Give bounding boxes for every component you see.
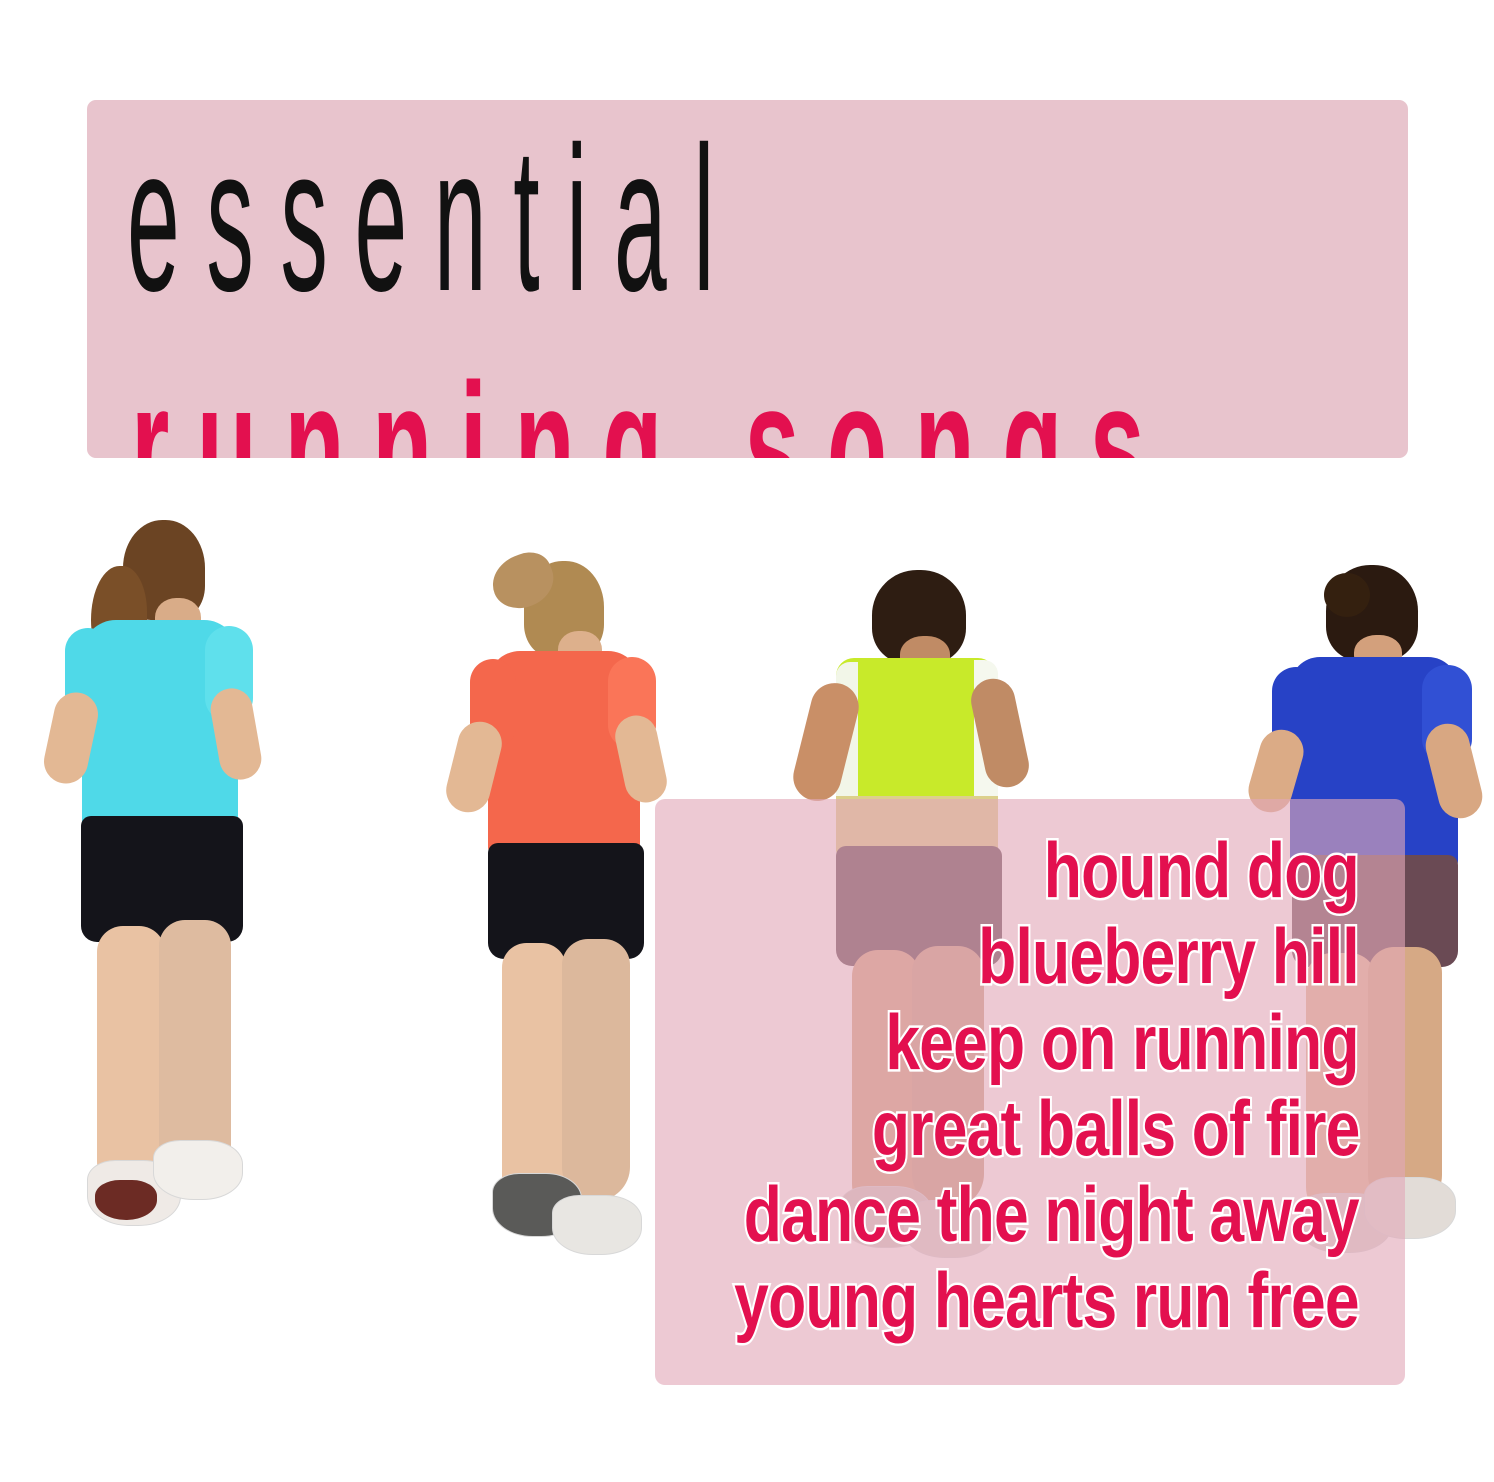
runner-2-leg-left bbox=[502, 943, 566, 1211]
runner-3-shirt bbox=[836, 658, 996, 806]
track-item: dance the night away bbox=[744, 1171, 1359, 1257]
title-panel: essential running songs bbox=[87, 100, 1408, 458]
runner-1-shoe-left-accent bbox=[95, 1180, 157, 1220]
tracklist-panel: hound dog blueberry hill keep on running… bbox=[655, 799, 1405, 1385]
album-title-primary: essential bbox=[127, 116, 707, 322]
runner-1 bbox=[35, 520, 275, 1240]
runner-2-leg-right bbox=[562, 939, 630, 1201]
runner-4-bun bbox=[1324, 573, 1370, 617]
runner-2-shorts bbox=[488, 843, 644, 959]
runner-1-shoe-right bbox=[153, 1140, 243, 1200]
album-title-secondary: running songs bbox=[131, 358, 859, 458]
album-cover: essential running songs hound dog bluebe… bbox=[0, 0, 1494, 1482]
track-item: blueberry hill bbox=[978, 913, 1359, 999]
runner-2-shoe-right bbox=[552, 1195, 642, 1255]
track-item: hound dog bbox=[1044, 827, 1359, 913]
track-item: great balls of fire bbox=[871, 1085, 1359, 1171]
tracklist: hound dog blueberry hill keep on running… bbox=[655, 799, 1405, 1385]
track-item: keep on running bbox=[886, 999, 1359, 1085]
runner-2 bbox=[440, 555, 680, 1255]
track-item: young hearts run free bbox=[734, 1257, 1359, 1343]
